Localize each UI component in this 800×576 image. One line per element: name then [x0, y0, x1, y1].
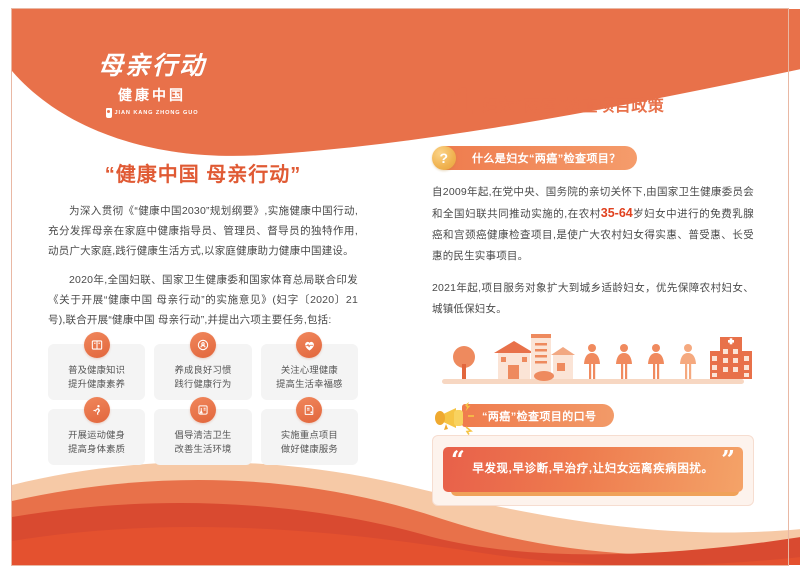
task-line-2: 践行健康行为 — [158, 377, 247, 391]
slogan-banner-label: “两癌”检查项目的口号 — [462, 404, 614, 427]
logo-sub-text: 健康中国 — [62, 85, 242, 105]
task-line-2: 提高生活幸福感 — [265, 377, 354, 391]
book-icon — [84, 332, 110, 358]
task-card[interactable]: 关注心理健康 提高生活幸福感 — [261, 344, 358, 400]
task-card[interactable]: 普及健康知识 提升健康素养 — [48, 344, 145, 400]
age-range-highlight: 35-64 — [601, 206, 633, 220]
quote-open-icon: “ — [451, 448, 465, 472]
heartbeat-icon — [296, 332, 322, 358]
left-paragraph-2: 2020年,全国妇联、国家卫生健康委和国家体育总局联合印发《关于开展“健康中国 … — [48, 270, 358, 330]
quote-inner-panel: “ 早发现,早诊断,早治疗,让妇女远离疾病困扰。 ” — [443, 447, 743, 492]
task-line-2: 提高身体素质 — [52, 442, 141, 456]
slogan-quote-box: “ 早发现,早诊断,早治疗,让妇女远离疾病困扰。 ” — [432, 435, 754, 506]
left-column: “健康中国 母亲行动” 为深入贯彻《“健康中国2030”规划纲要》,实施健康中国… — [48, 158, 358, 465]
brand-logo: 母亲行动 健康中国 JIAN KANG ZHONG GUO — [62, 52, 242, 118]
left-section-title: “健康中国 母亲行动” — [48, 158, 358, 187]
task-card[interactable]: 开展运动健身 提高身体素质 — [48, 409, 145, 465]
answer-paragraph-1: 自2009年起,在党中央、国务院的亲切关怀下,由国家卫生健康委员会和全国妇联共同… — [432, 182, 754, 267]
task-card[interactable]: 倡导清洁卫生 改善生活环境 — [154, 409, 251, 465]
village-women-hospital-illustration — [432, 331, 754, 387]
task-line-1: 倡导清洁卫生 — [158, 428, 247, 442]
logo-seal-icon — [106, 108, 112, 118]
broom-clean-icon — [190, 397, 216, 423]
question-banner-label: 什么是妇女“两癌”检查项目？ — [472, 150, 621, 166]
clipboard-check-icon — [296, 397, 322, 423]
task-card[interactable]: 养成良好习惯 践行健康行为 — [154, 344, 251, 400]
task-card[interactable]: 实施重点项目 做好健康服务 — [261, 409, 358, 465]
question-banner: ? 什么是妇女“两癌”检查项目？ — [442, 146, 637, 170]
slogan-text: 早发现,早诊断,早治疗,让妇女远离疾病困扰。 — [472, 460, 713, 478]
six-tasks-grid: 普及健康知识 提升健康素养 养成良好习惯 践行健康行为 — [48, 344, 358, 465]
logo-pinyin-row: JIAN KANG ZHONG GUO — [62, 108, 242, 118]
left-paragraph-1: 为深入贯彻《“健康中国2030”规划纲要》,实施健康中国行动,充分发挥母亲在家庭… — [48, 201, 358, 261]
quote-close-icon: ” — [721, 448, 735, 472]
section-title: 妇女“两癌”检查项目政策 — [482, 92, 664, 118]
slogan-banner-row: “两癌”检查项目的口号 — [432, 401, 754, 431]
task-line-2: 改善生活环境 — [158, 442, 247, 456]
answer-paragraph-2: 2021年起,项目服务对象扩大到城乡适龄妇女，优先保障农村妇女、城镇低保妇女。 — [432, 278, 754, 320]
habit-person-icon — [190, 332, 216, 358]
megaphone-icon — [432, 401, 480, 435]
task-line-2: 做好健康服务 — [265, 442, 354, 456]
task-line-1: 开展运动健身 — [52, 428, 141, 442]
running-person-icon — [84, 397, 110, 423]
logo-pinyin-text: JIAN KANG ZHONG GUO — [115, 110, 199, 116]
section-number: 01 — [432, 86, 472, 118]
question-mark-icon: ? — [432, 146, 456, 170]
logo-main-text: 母亲行动 — [62, 52, 242, 80]
section-header: 01 妇女“两癌”检查项目政策 — [432, 86, 754, 118]
task-line-1: 普及健康知识 — [52, 363, 141, 377]
task-line-1: 实施重点项目 — [265, 428, 354, 442]
poster-canvas: 母亲行动 健康中国 JIAN KANG ZHONG GUO “健康中国 母亲行动… — [0, 0, 800, 576]
task-line-1: 关注心理健康 — [265, 363, 354, 377]
task-line-2: 提升健康素养 — [52, 377, 141, 391]
right-column: 01 妇女“两癌”检查项目政策 ? 什么是妇女“两癌”检查项目？ 自2009年起… — [432, 86, 754, 506]
task-line-1: 养成良好习惯 — [158, 363, 247, 377]
